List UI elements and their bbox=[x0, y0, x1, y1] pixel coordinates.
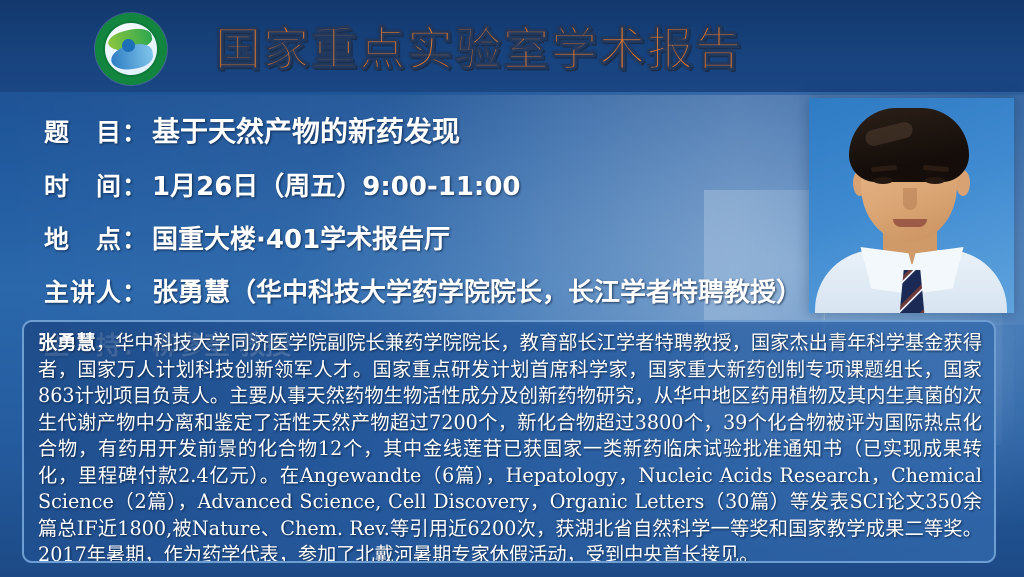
info-value-time: 1月26日（周五）9:00-11:00 bbox=[152, 166, 521, 203]
info-value-location: 国重大楼·401学术报告厅 bbox=[152, 219, 450, 256]
seminar-poster: 国家重点实验室学术报告 题 目： 基于天然产物的新药发现 时 间： 1月26日（… bbox=[0, 0, 1024, 577]
info-row-location: 地 点： 国重大楼·401学术报告厅 bbox=[44, 219, 814, 256]
info-row-speaker: 主讲人： 张勇慧（华中科技大学药学院院长，长江学者特聘教授） bbox=[44, 272, 814, 309]
portrait-eye-left bbox=[873, 177, 893, 184]
portrait-mouth bbox=[893, 219, 927, 227]
header-bar: 国家重点实验室学术报告 bbox=[0, 0, 1024, 92]
info-value-topic: 基于天然产物的新药发现 bbox=[152, 110, 460, 150]
logo-center-dot bbox=[122, 39, 135, 52]
portrait-eye-right bbox=[925, 177, 945, 184]
info-label-location: 地 点： bbox=[44, 220, 148, 256]
page-title: 国家重点实验室学术报告 bbox=[215, 13, 743, 79]
speaker-portrait bbox=[809, 98, 1014, 313]
info-label-time: 时 间： bbox=[44, 167, 148, 203]
bio-speaker-name: 张勇慧 bbox=[38, 331, 96, 354]
bio-text: ，华中科技大学同济医学院副院长兼药学院院长，教育部长江学者特聘教授，国家杰出青年… bbox=[38, 331, 982, 563]
logo-ring bbox=[105, 23, 157, 75]
info-row-topic: 题 目： 基于天然产物的新药发现 bbox=[44, 110, 814, 150]
portrait-hair bbox=[849, 108, 969, 182]
info-label-topic: 题 目： bbox=[44, 113, 148, 149]
institute-logo-icon bbox=[95, 13, 167, 85]
info-label-speaker: 主讲人： bbox=[44, 273, 148, 309]
info-value-speaker: 张勇慧（华中科技大学药学院院长，长江学者特聘教授） bbox=[152, 272, 802, 309]
portrait-nose bbox=[903, 188, 917, 210]
info-row-time: 时 间： 1月26日（周五）9:00-11:00 bbox=[44, 166, 814, 203]
speaker-bio-panel: 张勇慧，华中科技大学同济医学院副院长兼药学院院长，教育部长江学者特聘教授，国家杰… bbox=[22, 320, 996, 563]
